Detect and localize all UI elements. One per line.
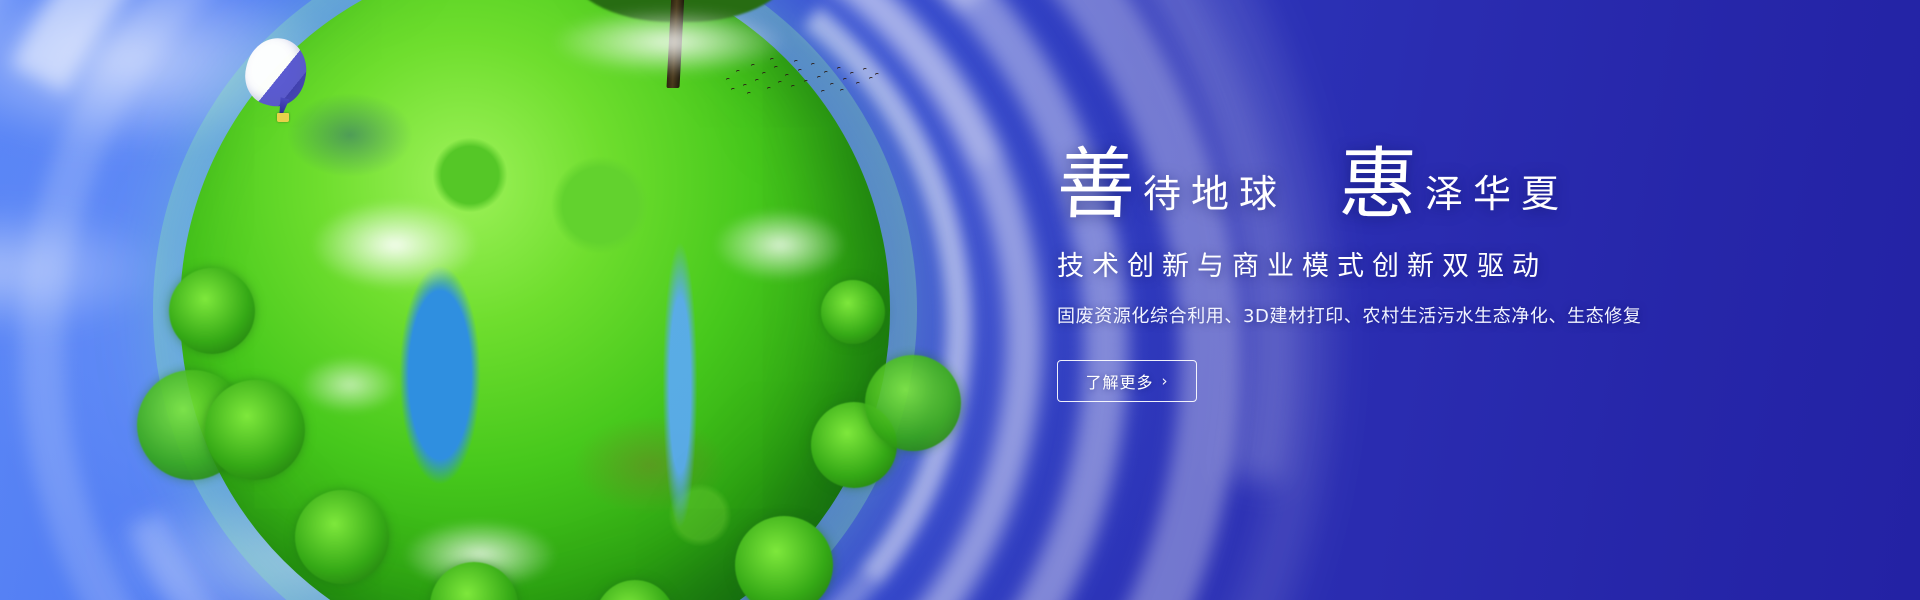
hero-description: 固废资源化综合利用、3D建材打印、农村生活污水生态净化、生态修复 bbox=[1057, 302, 1817, 328]
headline-char-1: 善 bbox=[1056, 150, 1139, 222]
rim-tree-icon bbox=[295, 490, 389, 584]
page-title: 善 待地球 惠 泽华夏 bbox=[1057, 150, 1817, 222]
balloon-basket bbox=[277, 113, 289, 122]
rim-tree-icon bbox=[169, 268, 255, 354]
rim-tree-icon bbox=[205, 380, 305, 480]
headline-char-2: 惠 bbox=[1338, 150, 1421, 222]
learn-more-label: 了解更多 bbox=[1085, 369, 1153, 393]
balloon-envelope bbox=[239, 32, 314, 112]
chevron-right-icon: › bbox=[1162, 372, 1169, 390]
rim-tree-icon bbox=[735, 516, 833, 600]
hero-copy: 善 待地球 惠 泽华夏 技术创新与商业模式创新双驱动 固废资源化综合利用、3D建… bbox=[1057, 150, 1817, 402]
rim-tree-icon bbox=[821, 280, 885, 344]
learn-more-button[interactable]: 了解更多 › bbox=[1057, 360, 1197, 402]
bird-flock-icon bbox=[722, 52, 882, 104]
headline-rest-2: 泽华夏 bbox=[1419, 175, 1569, 222]
rim-tree-icon bbox=[865, 355, 961, 451]
hero-banner: 善 待地球 惠 泽华夏 技术创新与商业模式创新双驱动 固废资源化综合利用、3D建… bbox=[0, 0, 1920, 600]
hero-subtitle: 技术创新与商业模式创新双驱动 bbox=[1057, 244, 1817, 283]
headline-rest-1: 待地球 bbox=[1137, 175, 1287, 222]
hot-air-balloon-icon bbox=[246, 38, 308, 130]
